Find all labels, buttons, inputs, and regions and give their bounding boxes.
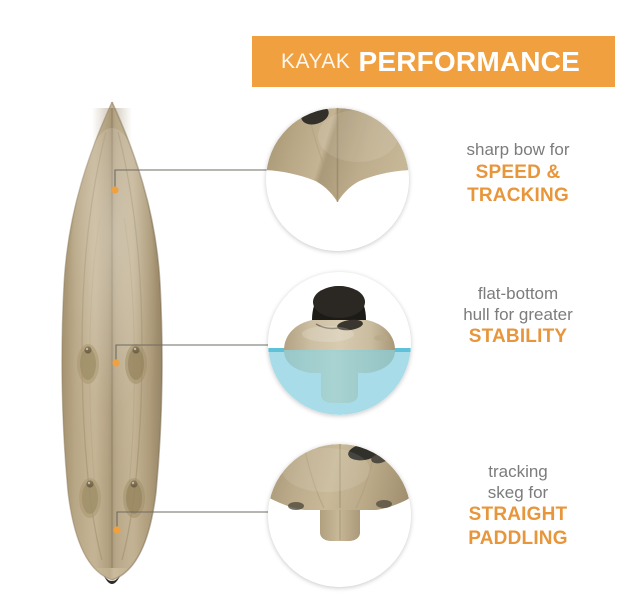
banner-title-light: KAYAK: [281, 50, 350, 74]
label-accent-hull-1: STABILITY: [418, 325, 618, 348]
banner-title-bold: PERFORMANCE: [358, 46, 580, 78]
callout-circle-skeg: [268, 444, 411, 587]
kayak-hull-bottom-view-svg: [40, 98, 190, 588]
tracking-skeg-closeup-image: [268, 444, 411, 587]
header-banner: KAYAK PERFORMANCE: [252, 36, 615, 87]
label-accent-bow-1: SPEED &: [418, 161, 618, 184]
label-accent-skeg-2: PADDLING: [418, 527, 618, 550]
flat-bottom-hull-in-water-image: [268, 272, 411, 415]
kayak-performance-infographic: KAYAK PERFORMANCE: [0, 0, 626, 615]
callout-circle-bow: [266, 108, 409, 251]
label-accent-bow-2: TRACKING: [418, 184, 618, 207]
label-lead-hull-1: flat-bottom: [418, 284, 618, 305]
label-lead-skeg-1: tracking: [418, 462, 618, 483]
scupper-right: [376, 500, 392, 508]
label-lead-hull-2: hull for greater: [418, 305, 618, 326]
kayak-illustration: [40, 98, 190, 588]
callout-label-hull: flat-bottom hull for greater STABILITY: [418, 284, 618, 349]
sharp-bow-closeup-image: [266, 108, 409, 251]
label-lead-skeg-2: skeg for: [418, 483, 618, 504]
hull-gloss: [68, 128, 156, 488]
label-lead-bow-1: sharp bow for: [418, 140, 618, 161]
label-accent-skeg-1: STRAIGHT: [418, 503, 618, 526]
callout-circle-hull: [268, 272, 411, 415]
callout-label-bow: sharp bow for SPEED & TRACKING: [418, 140, 618, 207]
scupper-left: [288, 502, 304, 510]
callout-label-skeg: tracking skeg for STRAIGHT PADDLING: [418, 462, 618, 550]
